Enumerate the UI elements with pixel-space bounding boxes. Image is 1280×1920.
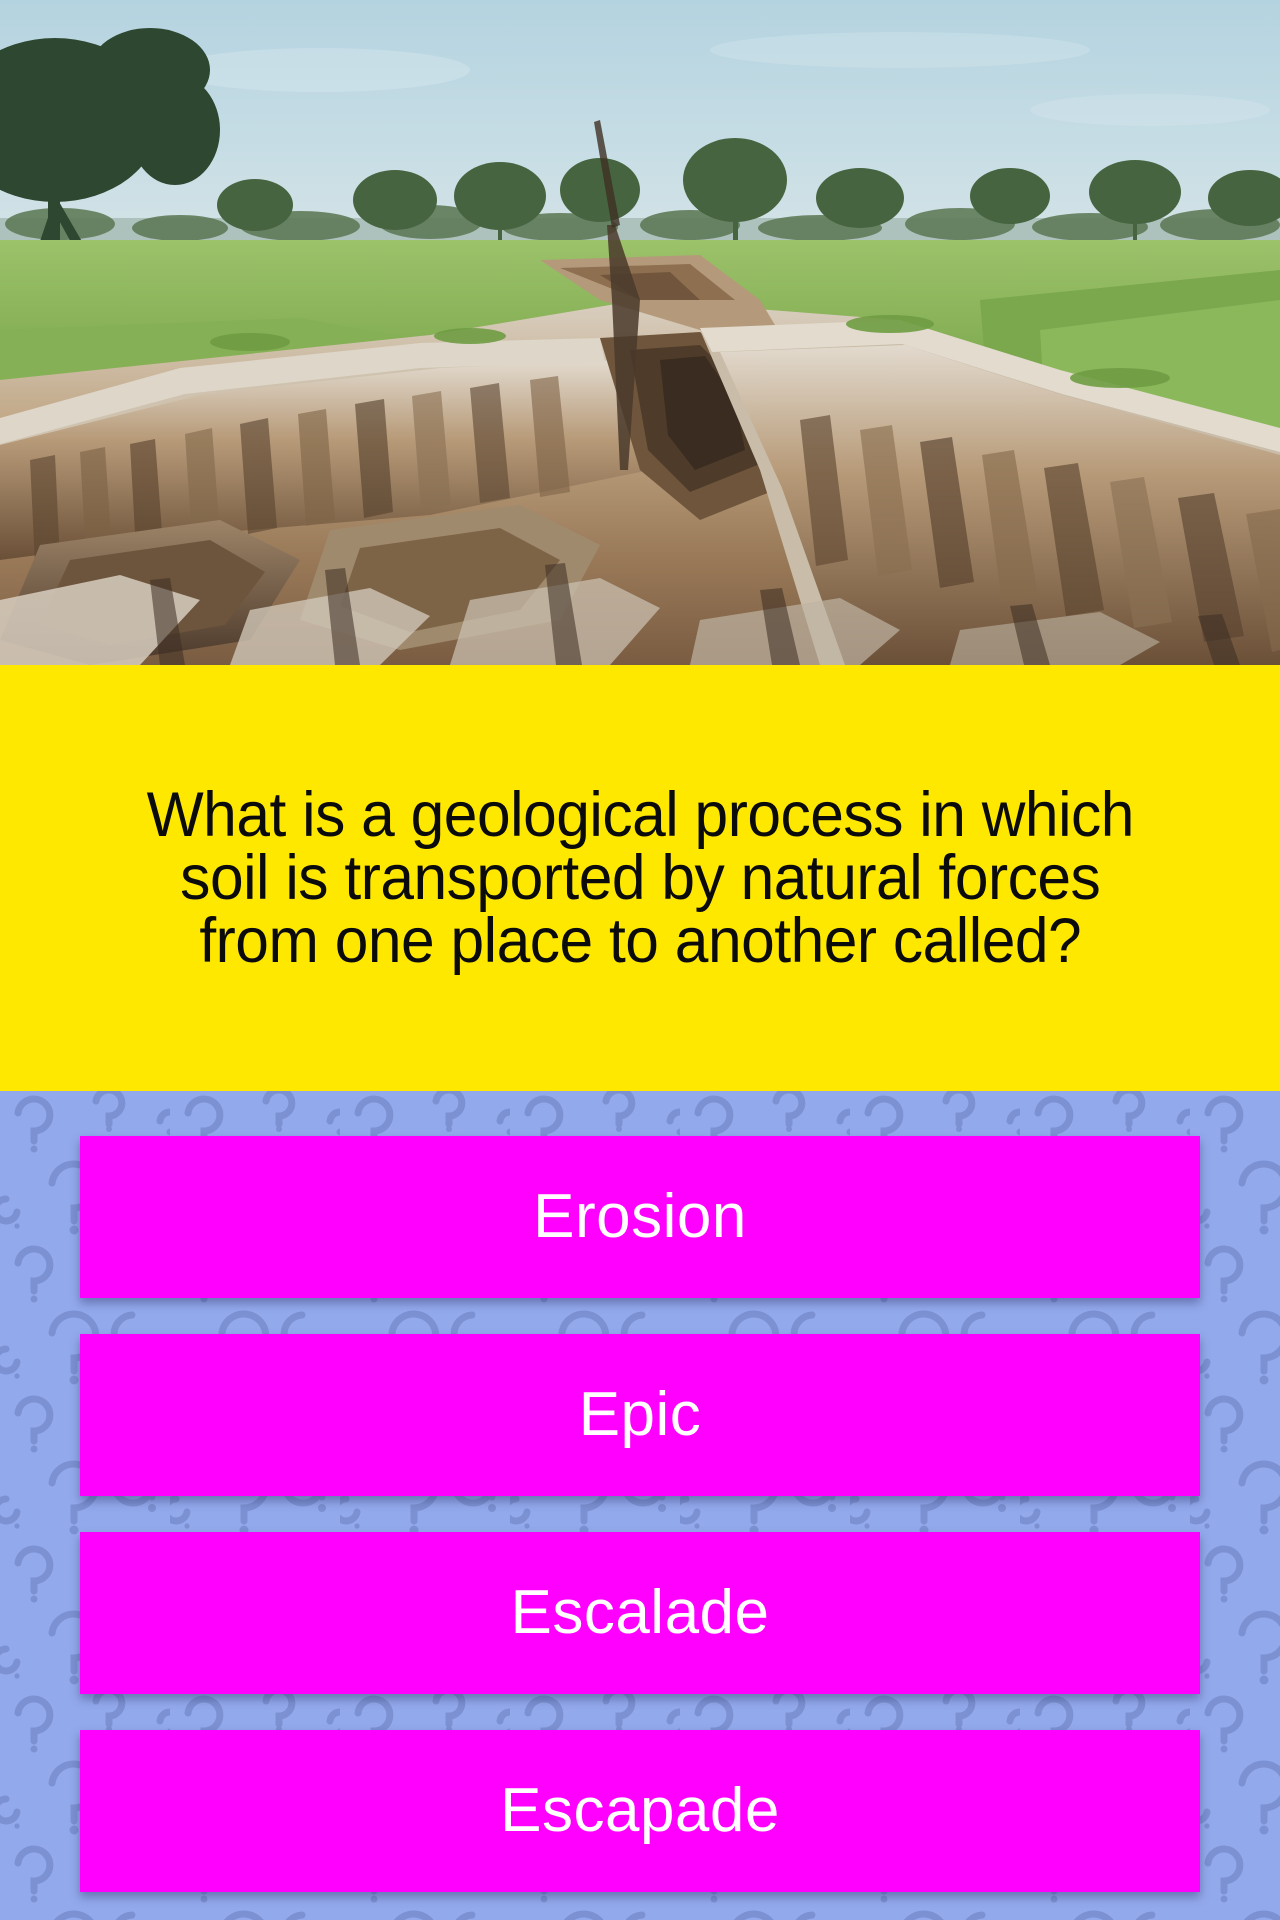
answer-option-1-label: Erosion (533, 1186, 747, 1248)
answer-option-4-label: Escapade (500, 1780, 780, 1842)
answer-option-3[interactable]: Escalade (80, 1532, 1200, 1694)
answer-option-2[interactable]: Epic (80, 1334, 1200, 1496)
question-image (0, 0, 1280, 665)
answer-options-list: Erosion Epic Escalade Escapade (0, 1091, 1280, 1892)
quiz-card: What is a geological process in which so… (0, 0, 1280, 1920)
answer-option-1[interactable]: Erosion (80, 1136, 1200, 1298)
question-band: What is a geological process in which so… (0, 665, 1280, 1091)
answer-option-2-label: Epic (579, 1384, 702, 1446)
answer-option-4[interactable]: Escapade (80, 1730, 1200, 1892)
answers-area: Erosion Epic Escalade Escapade (0, 1091, 1280, 1920)
question-text: What is a geological process in which so… (146, 784, 1133, 973)
soil-erosion-gully-photograph (0, 0, 1280, 665)
answer-option-3-label: Escalade (510, 1582, 769, 1644)
